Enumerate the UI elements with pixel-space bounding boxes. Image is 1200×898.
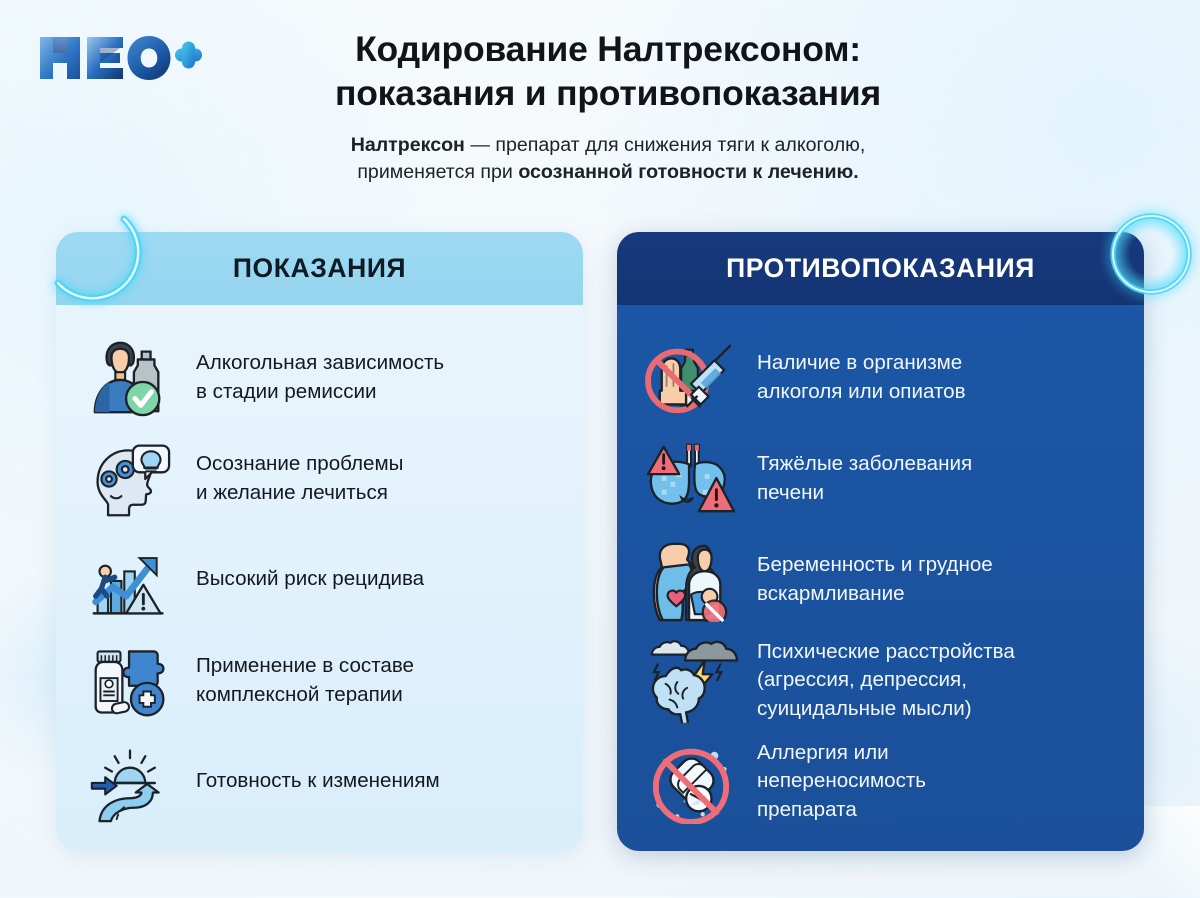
page-header: Кодирование Налтрексоном: показания и пр… bbox=[0, 0, 1200, 212]
title-block: Кодирование Налтрексоном: показания и пр… bbox=[228, 28, 988, 186]
list-item-line-2: алкоголя или опиатов bbox=[757, 378, 966, 406]
list-item-line-2: вскармливание bbox=[757, 580, 993, 608]
list-item[interactable]: Психические расстройства (агрессия, депр… bbox=[643, 630, 1118, 731]
list-item-text: Наличие в организме алкоголя или опиатов bbox=[757, 349, 966, 406]
indications-card-header: ПОКАЗАНИЯ bbox=[56, 232, 583, 305]
brain-storm-cloud-icon bbox=[643, 638, 739, 724]
list-item-line-1: Готовность к изменениям bbox=[196, 767, 440, 795]
page-subtitle: Налтрексон — препарат для снижения тяги … bbox=[228, 132, 988, 186]
list-item-text: Осознание проблемы и желание лечиться bbox=[196, 450, 403, 507]
person-with-bottle-check-icon bbox=[82, 335, 178, 421]
subtitle-text-1: — препарат для снижения тяги к алкоголю, bbox=[465, 134, 865, 156]
list-item-text: Психические расстройства (агрессия, депр… bbox=[757, 638, 1015, 723]
list-item[interactable]: Наличие в организме алкоголя или опиатов bbox=[643, 327, 1118, 428]
list-item-line-2: и желание лечиться bbox=[196, 479, 403, 507]
list-item-line-3: препарата bbox=[757, 796, 926, 824]
page-title-line-1: Кодирование Налтрексоном: bbox=[228, 28, 988, 72]
cards-container: ПОКАЗАНИЯ bbox=[0, 232, 1200, 896]
list-item-line-1: Высокий риск рецидива bbox=[196, 565, 424, 593]
list-item-line-2: комплексной терапии bbox=[196, 681, 414, 709]
list-item-text: Применение в составе комплексной терапии bbox=[196, 652, 414, 709]
list-item-line-1: Применение в составе bbox=[196, 652, 414, 680]
list-item[interactable]: Тяжёлые заболевания печени bbox=[643, 428, 1118, 529]
list-item-text: Беременность и грудное вскармливание bbox=[757, 551, 993, 608]
list-item-line-2: (агрессия, депрессия, bbox=[757, 666, 1015, 694]
list-item[interactable]: Осознание проблемы и желание лечиться bbox=[82, 428, 557, 529]
list-item[interactable]: Алкогольная зависимость в стадии ремисси… bbox=[82, 327, 557, 428]
list-item-text: Алкогольная зависимость в стадии ремисси… bbox=[196, 349, 444, 406]
list-item[interactable]: Применение в составе комплексной терапии bbox=[82, 630, 557, 731]
list-item-line-2: печени bbox=[757, 479, 972, 507]
list-item[interactable]: Высокий риск рецидива bbox=[82, 529, 557, 630]
list-item-line-1: Тяжёлые заболевания bbox=[757, 450, 972, 478]
page-title-line-2: показания и противопоказания bbox=[228, 72, 988, 116]
list-item[interactable]: Беременность и грудное вскармливание bbox=[643, 529, 1118, 630]
list-item-line-1: Осознание проблемы bbox=[196, 450, 403, 478]
list-item[interactable]: Аллергия или непереносимость препарата bbox=[643, 731, 1118, 832]
subtitle-drug-name: Налтрексон bbox=[351, 134, 465, 156]
brand-logo bbox=[34, 29, 204, 87]
contraindications-card-header: ПРОТИВОПОКАЗАНИЯ bbox=[617, 232, 1144, 305]
list-item-line-1: Психические расстройства bbox=[757, 638, 1015, 666]
contraindications-card: ПРОТИВОПОКАЗАНИЯ bbox=[617, 232, 1144, 851]
list-item-line-1: Беременность и грудное bbox=[757, 551, 993, 579]
list-item-text: Готовность к изменениям bbox=[196, 767, 440, 795]
no-pills-allergy-icon bbox=[643, 739, 739, 825]
list-item-line-2: непереносимость bbox=[757, 767, 926, 795]
list-item-line-1: Наличие в организме bbox=[757, 349, 966, 377]
subtitle-text-2: применяется при bbox=[357, 161, 518, 183]
pill-bottle-puzzle-plus-icon bbox=[82, 638, 178, 724]
page-title: Кодирование Налтрексоном: показания и пр… bbox=[228, 28, 988, 115]
head-gears-lightbulb-icon bbox=[82, 436, 178, 522]
list-item-line-2: в стадии ремиссии bbox=[196, 378, 444, 406]
indications-card-body: Алкогольная зависимость в стадии ремисси… bbox=[56, 305, 583, 851]
no-alcohol-syringe-icon bbox=[643, 335, 739, 421]
indications-card: ПОКАЗАНИЯ bbox=[56, 232, 583, 851]
list-item-text: Аллергия или непереносимость препарата bbox=[757, 739, 926, 824]
subtitle-emphasis: осознанной готовности к лечению. bbox=[518, 161, 858, 183]
rising-chart-warning-icon bbox=[82, 537, 178, 623]
indications-card-title: ПОКАЗАНИЯ bbox=[233, 253, 406, 284]
page-subtitle-line-1: Налтрексон — препарат для снижения тяги … bbox=[228, 132, 988, 159]
liver-warning-icon bbox=[643, 436, 739, 522]
list-item-line-1: Алкогольная зависимость bbox=[196, 349, 444, 377]
list-item-line-1: Аллергия или bbox=[757, 739, 926, 767]
list-item-text: Тяжёлые заболевания печени bbox=[757, 450, 972, 507]
list-item[interactable]: Готовность к изменениям bbox=[82, 731, 557, 832]
contraindications-card-body: Наличие в организме алкоголя или опиатов bbox=[617, 305, 1144, 851]
list-item-text: Высокий риск рецидива bbox=[196, 565, 424, 593]
page-subtitle-line-2: применяется при осознанной готовности к … bbox=[228, 159, 988, 186]
list-item-line-3: суицидальные мысли) bbox=[757, 695, 1015, 723]
contraindications-card-title: ПРОТИВОПОКАЗАНИЯ bbox=[726, 253, 1035, 284]
sunrise-road-arrow-icon bbox=[82, 739, 178, 825]
pregnancy-breastfeeding-ban-icon bbox=[643, 537, 739, 623]
